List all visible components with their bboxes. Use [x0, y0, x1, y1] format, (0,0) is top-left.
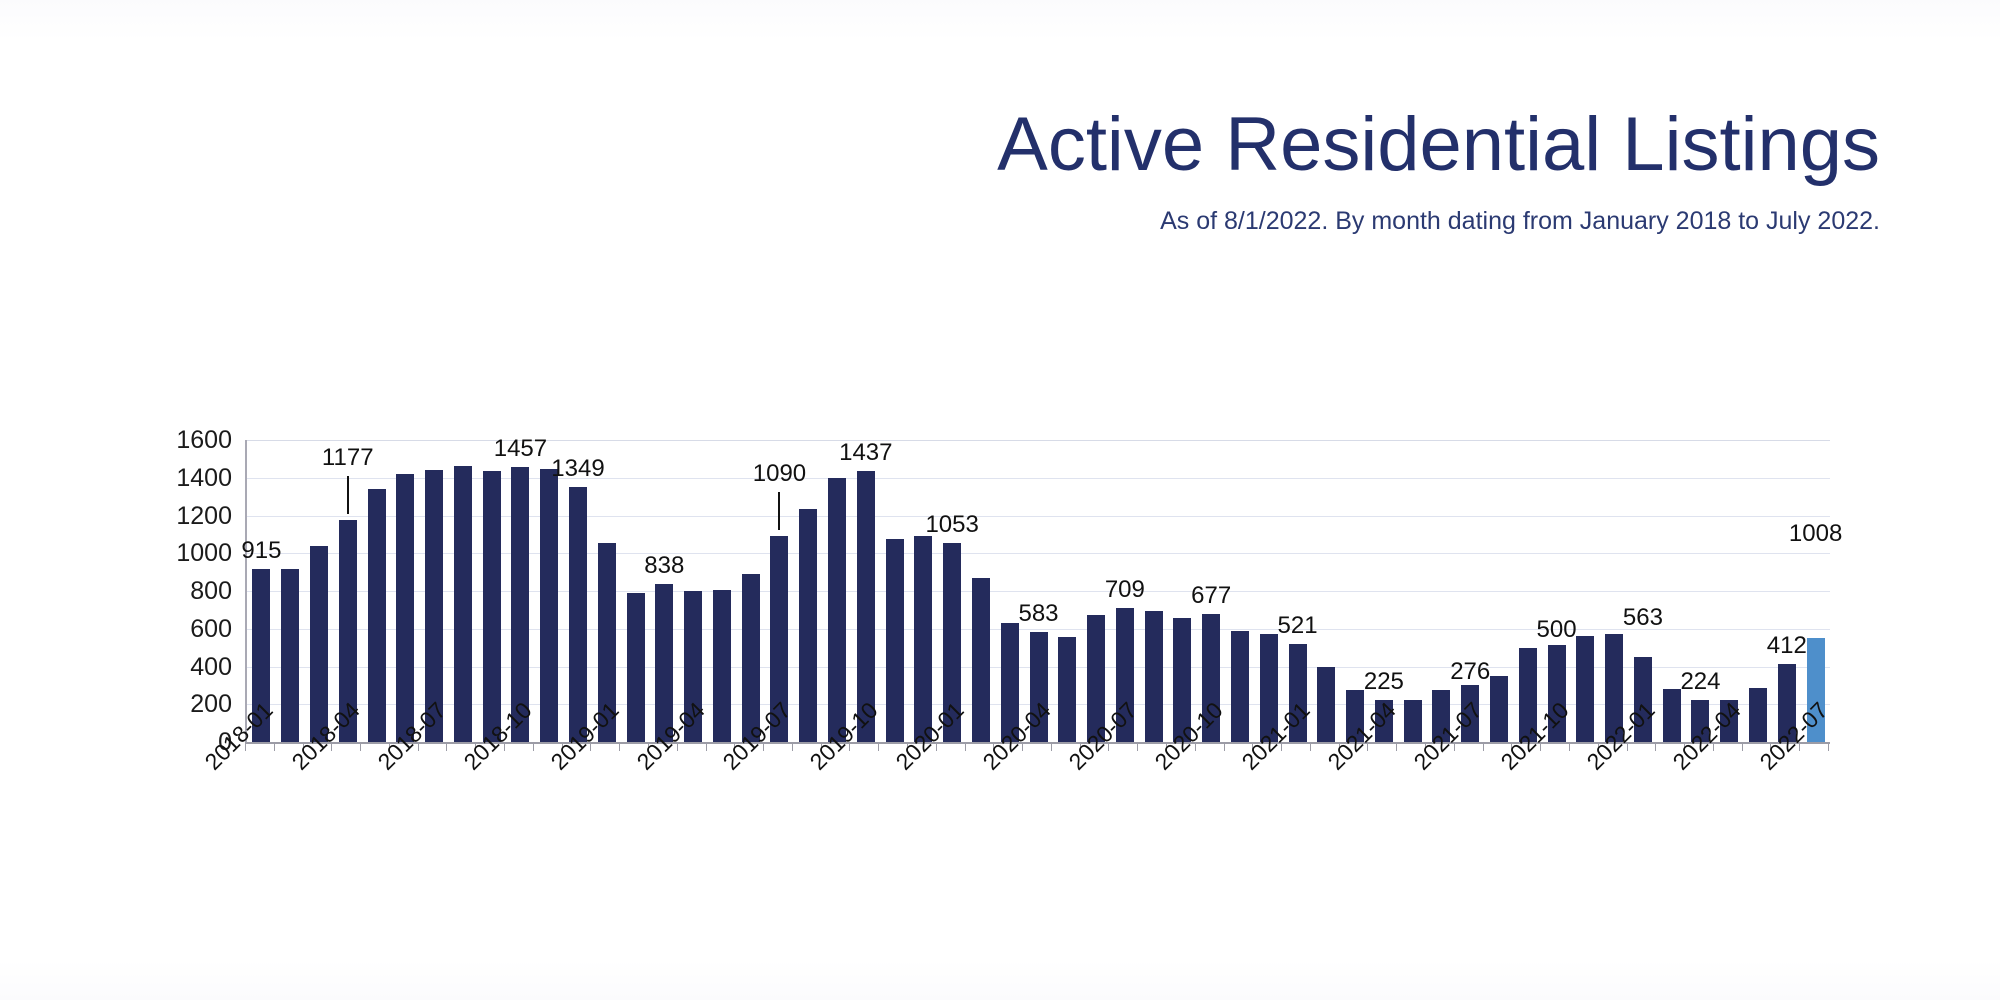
bar[interactable] [1404, 700, 1422, 742]
bar[interactable] [569, 487, 587, 742]
x-axis-tick [274, 742, 275, 751]
bar-value-label: 583 [1018, 602, 1058, 626]
x-axis-tick [1137, 742, 1138, 751]
bar[interactable] [454, 466, 472, 742]
y-axis-tick-label: 1000 [176, 541, 232, 566]
x-axis-tick [1483, 742, 1484, 751]
bar[interactable] [281, 569, 299, 742]
x-axis-tick [792, 742, 793, 751]
bar[interactable] [1749, 688, 1767, 742]
x-axis-tick [878, 742, 879, 751]
x-axis-tick [619, 742, 620, 751]
x-axis-tick [1051, 742, 1052, 751]
bar[interactable] [828, 478, 846, 742]
bar[interactable] [540, 469, 558, 742]
bar[interactable] [972, 578, 990, 742]
y-axis-tick-label: 1600 [176, 428, 232, 453]
x-axis-tick [1396, 742, 1397, 751]
bar[interactable] [914, 536, 932, 742]
bar[interactable] [1231, 631, 1249, 742]
bar-value-label: 915 [241, 539, 281, 563]
bar-value-label: 1437 [839, 441, 892, 465]
bar-value-label: 224 [1680, 670, 1720, 694]
bar-value-label: 709 [1105, 578, 1145, 602]
x-axis-tick [1742, 742, 1743, 751]
bar-value-label: 225 [1364, 670, 1404, 694]
y-axis-labels: 16001400120010008006004002000 [140, 440, 232, 742]
bar[interactable] [627, 593, 645, 742]
y-axis-tick-label: 1400 [176, 466, 232, 491]
bar[interactable] [310, 546, 328, 742]
x-axis-tick [706, 742, 707, 751]
y-axis-tick-label: 600 [190, 617, 232, 642]
bar[interactable] [396, 474, 414, 742]
bar[interactable] [368, 489, 386, 742]
bar[interactable] [1663, 689, 1681, 742]
x-axis-tick [446, 742, 447, 751]
bar-value-label: 1457 [494, 437, 547, 461]
x-axis-tick [965, 742, 966, 751]
bar-value-label: 1349 [551, 457, 604, 481]
bar[interactable] [1317, 667, 1335, 742]
bar-value-label: 1177 [322, 446, 374, 470]
bar-value-label: 276 [1450, 660, 1490, 684]
bar[interactable] [799, 509, 817, 742]
bar-value-label: 563 [1623, 606, 1663, 630]
x-axis-tick [1655, 742, 1656, 751]
bar-value-label: 521 [1278, 614, 1318, 638]
x-axis-tick [1569, 742, 1570, 751]
bar-value-label: 500 [1537, 618, 1577, 642]
bar-value-label: 1008 [1789, 522, 1842, 546]
bar-chart: 16001400120010008006004002000 9151177145… [0, 0, 2000, 1000]
y-axis-tick-label: 400 [190, 655, 232, 680]
bar-series [247, 440, 1830, 742]
bar-value-label: 838 [644, 554, 684, 578]
bar-value-label: 677 [1191, 584, 1231, 608]
bar[interactable] [886, 539, 904, 742]
x-axis-tick [1224, 742, 1225, 751]
label-leader-line [347, 476, 349, 514]
bar[interactable] [1145, 611, 1163, 742]
x-axis-tick [1828, 742, 1829, 751]
bar[interactable] [483, 471, 501, 742]
bar-value-label: 1053 [925, 513, 978, 537]
x-axis-tick [1310, 742, 1311, 751]
bar-value-label: 1090 [753, 462, 806, 486]
y-axis-tick-label: 800 [190, 579, 232, 604]
label-leader-line [778, 492, 780, 530]
bar[interactable] [713, 590, 731, 742]
bar[interactable] [1058, 637, 1076, 742]
x-axis-tick [360, 742, 361, 751]
bar-value-label: 412 [1767, 634, 1807, 658]
y-axis-tick-label: 1200 [176, 504, 232, 529]
bar[interactable] [1490, 676, 1508, 742]
x-axis-tick [533, 742, 534, 751]
bar[interactable] [1576, 636, 1594, 742]
y-axis-tick-label: 200 [190, 692, 232, 717]
